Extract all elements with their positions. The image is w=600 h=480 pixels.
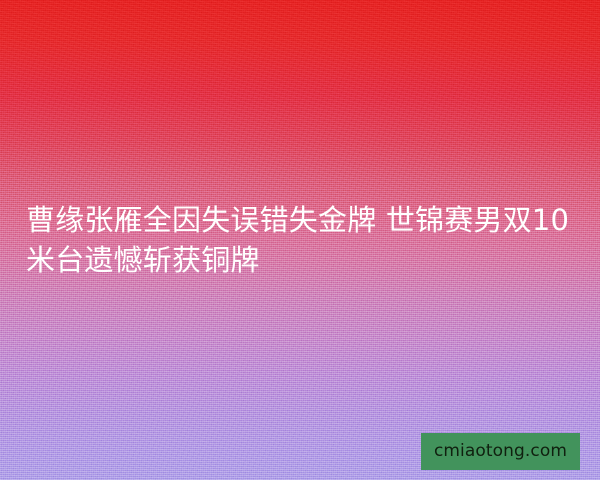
headline-text: 曹缘张雁全因失误错失金牌 世锦赛男双10米台遗憾斩获铜牌 (0, 200, 600, 280)
watermark-badge: cmiaotong.com (421, 433, 580, 470)
watermark-label: cmiaotong.com (434, 443, 567, 460)
text-image-card: 曹缘张雁全因失误错失金牌 世锦赛男双10米台遗憾斩获铜牌 cmiaotong.c… (0, 0, 600, 480)
